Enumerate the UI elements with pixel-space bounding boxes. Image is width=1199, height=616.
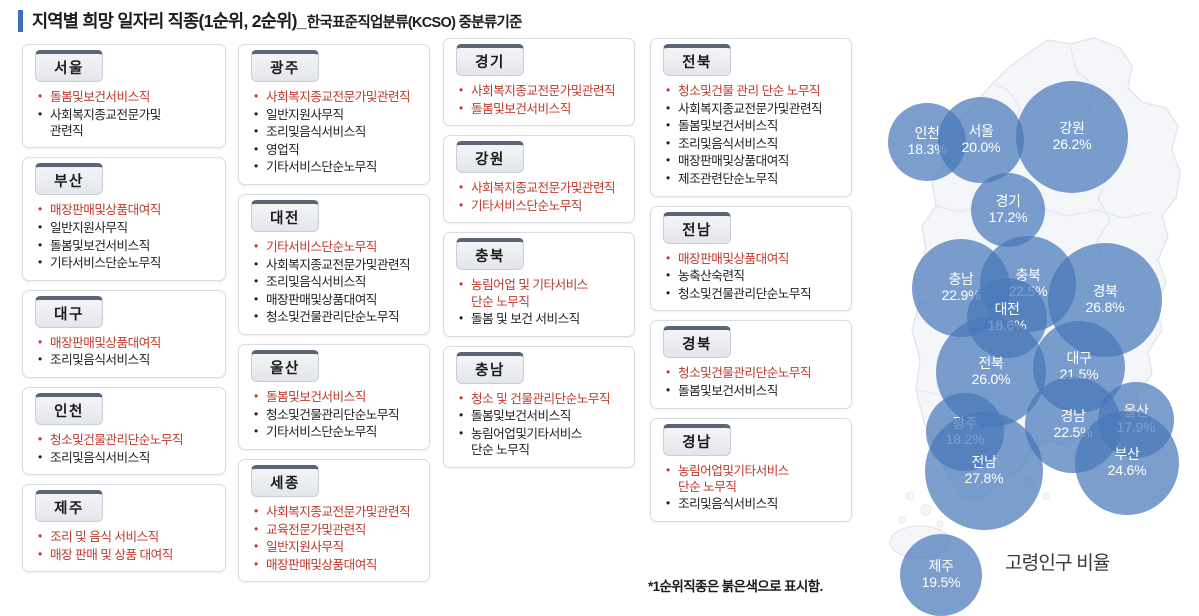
map-bubble: 서울20.0% [938,97,1024,183]
job-list: 청소및건물관리단순노무직돌봄및보건서비스직 [651,365,851,399]
region-card-header: 전북 [663,44,731,76]
job-item: 사회복지종교전문가및 관련직 [37,107,217,139]
region-card: 울산돌봄및보건서비스직청소및건물관리단순노무직기타서비스단순노무직 [238,344,430,450]
page-title: 지역별 희망 일자리 직종(1순위, 2순위)_ 한국표준직업분류(KCSO) … [18,8,522,33]
job-item: 사회복지종교전문가및관련직 [458,83,626,99]
region-card-header: 부산 [35,163,103,195]
job-item: 청소및건물관리단순노무직 [665,365,843,381]
region-card: 경북청소및건물관리단순노무직돌봄및보건서비스직 [650,320,852,408]
job-list: 매장판매및상품대여직농축산숙련직청소및건물관리단순노무직 [651,251,851,302]
job-item: 농축산숙련직 [665,268,843,284]
region-card: 충남청소 및 건물관리단순노무직돌봄및보건서비스직농림어업및기타서비스 단순 노… [443,346,635,468]
job-item: 매장판매및상품대여직 [37,335,217,351]
region-card: 부산매장판매및상품대여직일반지원사무직돌봄및보건서비스직기타서비스단순노무직 [22,157,226,280]
map-bubble: 제주19.5% [900,534,982,616]
region-card: 세종사회복지종교전문가및관련직교육전문가및관련직일반지원사무직매장판매및상품대여… [238,459,430,582]
region-card: 제주조리 및 음식 서비스직매장 판매 및 상품 대여직 [22,484,226,572]
region-name: 경북 [682,337,712,353]
bubble-value: 26.8% [1086,300,1125,316]
region-column-4: 전북청소및건물 관리 단순 노무직사회복지종교전문가및관련직돌봄및보건서비스직조… [650,38,852,531]
region-card: 경기사회복지종교전문가및관련직돌봄및보건서비스직 [443,38,635,126]
job-item: 청소및건물관리단순노무직 [253,407,421,423]
map-bubble: 부산24.6% [1075,411,1179,515]
bubble-region-name: 경남 [1061,409,1086,425]
region-card: 광주사회복지종교전문가및관련직일반지원사무직조리및음식서비스직영업직기타서비스단… [238,44,430,185]
job-item: 기타서비스단순노무직 [458,198,626,214]
job-list: 청소및건물관리단순노무직조리및음식서비스직 [23,432,225,466]
bubble-region-name: 부산 [1115,447,1140,463]
region-card: 인천청소및건물관리단순노무직조리및음식서비스직 [22,387,226,475]
region-name: 전북 [682,55,712,71]
bubble-map-panel: 인천18.3%서울20.0%강원26.2%경기17.2%충남22.9%충북22.… [880,30,1199,602]
job-item: 청소및건물관리단순노무직 [253,309,421,325]
job-item: 청소및건물 관리 단순 노무직 [665,83,843,99]
job-item: 매장 판매 및 상품 대여직 [37,547,217,563]
job-item: 돌봄및보건서비스직 [253,389,421,405]
job-item: 매장판매및상품대여직 [665,153,843,169]
job-item: 돌봄및보건서비스직 [665,383,843,399]
region-name: 충북 [475,249,505,265]
region-card: 전북청소및건물 관리 단순 노무직사회복지종교전문가및관련직돌봄및보건서비스직조… [650,38,852,197]
region-name: 제주 [54,501,84,517]
region-name: 대구 [54,307,84,323]
job-item: 조리및음식서비스직 [37,450,217,466]
job-item: 교육전문가및관련직 [253,522,421,538]
region-card-header: 대구 [35,296,103,328]
job-item: 매장판매및상품대여직 [665,251,843,267]
bubble-region-name: 충남 [949,272,974,288]
job-item: 매장판매및상품대여직 [37,202,217,218]
region-column-1: 서울돌봄및보건서비스직사회복지종교전문가및 관련직부산매장판매및상품대여직일반지… [22,44,226,581]
region-name: 인천 [54,404,84,420]
job-item: 사회복지종교전문가및관련직 [458,180,626,196]
chart-title: 고령인구 비율 [1005,548,1110,575]
job-item: 조리및음식서비스직 [37,352,217,368]
bubble-value: 19.5% [922,575,961,591]
region-card-header: 강원 [456,141,524,173]
job-list: 돌봄및보건서비스직청소및건물관리단순노무직기타서비스단순노무직 [239,389,429,440]
bubble-value: 27.8% [965,471,1004,487]
job-item: 기타서비스단순노무직 [37,255,217,271]
bubble-region-name: 대구 [1067,351,1092,367]
job-item: 영업직 [253,142,421,158]
job-item: 매장판매및상품대여직 [253,292,421,308]
region-card: 충북농림어업 및 기타서비스 단순 노무직돌봄 및 보건 서비스직 [443,232,635,336]
job-list: 사회복지종교전문가및관련직일반지원사무직조리및음식서비스직영업직기타서비스단순노… [239,89,429,176]
job-item: 청소 및 건물관리단순노무직 [458,391,626,407]
region-card: 대전기타서비스단순노무직사회복지종교전문가및관련직조리및음식서비스직매장판매및상… [238,194,430,335]
job-item: 기타서비스단순노무직 [253,424,421,440]
region-column-2: 광주사회복지종교전문가및관련직일반지원사무직조리및음식서비스직영업직기타서비스단… [238,44,430,591]
region-card: 서울돌봄및보건서비스직사회복지종교전문가및 관련직 [22,44,226,148]
bubble-region-name: 대전 [995,302,1020,318]
job-item: 일반지원사무직 [253,539,421,555]
region-card: 강원사회복지종교전문가및관련직기타서비스단순노무직 [443,135,635,223]
job-list: 매장판매및상품대여직일반지원사무직돌봄및보건서비스직기타서비스단순노무직 [23,202,225,271]
job-item: 사회복지종교전문가및관련직 [253,89,421,105]
job-item: 돌봄및보건서비스직 [665,118,843,134]
job-item: 돌봄및보건서비스직 [37,89,217,105]
job-item: 기타서비스단순노무직 [253,159,421,175]
job-list: 청소및건물 관리 단순 노무직사회복지종교전문가및관련직돌봄및보건서비스직조리및… [651,83,851,187]
region-name: 충남 [475,363,505,379]
job-item: 조리및음식서비스직 [665,496,843,512]
job-item: 조리및음식서비스직 [253,274,421,290]
region-name: 경기 [475,55,505,71]
region-card-header: 경남 [663,424,731,456]
region-card-header: 울산 [251,350,319,382]
job-list: 사회복지종교전문가및관련직교육전문가및관련직일반지원사무직매장판매및상품대여직 [239,504,429,573]
job-item: 제조관련단순노무직 [665,171,843,187]
job-item: 일반지원사무직 [37,220,217,236]
job-item: 조리및음식서비스직 [665,136,843,152]
bubble-region-name: 전북 [979,356,1004,372]
job-item: 매장판매및상품대여직 [253,557,421,573]
region-name: 부산 [54,174,84,190]
bubble-value: 24.6% [1108,463,1147,479]
region-name: 세종 [270,476,300,492]
region-card-header: 충남 [456,352,524,384]
job-item: 청소및건물관리단순노무직 [37,432,217,448]
bubble-region-name: 경북 [1093,284,1118,300]
bubble-region-name: 제주 [929,559,954,575]
job-list: 사회복지종교전문가및관련직기타서비스단순노무직 [444,180,634,214]
bubble-value: 20.0% [962,140,1001,156]
job-item: 청소및건물관리단순노무직 [665,286,843,302]
job-item: 농림어업및기타서비스 단순 노무직 [458,426,626,458]
job-list: 사회복지종교전문가및관련직돌봄및보건서비스직 [444,83,634,117]
title-accent-bar [18,10,23,32]
region-card-header: 충북 [456,238,524,270]
bubble-region-name: 인천 [915,126,940,142]
region-card-header: 전남 [663,212,731,244]
job-item: 돌봄및보건서비스직 [458,101,626,117]
bubble-region-name: 강원 [1060,121,1085,137]
region-card-header: 세종 [251,465,319,497]
region-card-header: 제주 [35,490,103,522]
job-list: 기타서비스단순노무직사회복지종교전문가및관련직조리및음식서비스직매장판매및상품대… [239,239,429,326]
region-column-3: 경기사회복지종교전문가및관련직돌봄및보건서비스직강원사회복지종교전문가및관련직기… [443,38,635,477]
region-name: 강원 [475,152,505,168]
job-item: 조리 및 음식 서비스직 [37,529,217,545]
job-item: 사회복지종교전문가및관련직 [665,101,843,117]
job-list: 농림어업및기타서비스 단순 노무직조리및음식서비스직 [651,463,851,513]
title-sub-text: 한국표준직업분류(KCSO) 중분류기준 [307,11,522,32]
job-item: 돌봄및보건서비스직 [458,408,626,424]
region-name: 울산 [270,361,300,377]
region-name: 경남 [682,435,712,451]
region-name: 광주 [270,61,300,77]
region-card: 대구매장판매및상품대여직조리및음식서비스직 [22,290,226,378]
job-list: 매장판매및상품대여직조리및음식서비스직 [23,335,225,369]
job-list: 돌봄및보건서비스직사회복지종교전문가및 관련직 [23,89,225,139]
job-list: 조리 및 음식 서비스직매장 판매 및 상품 대여직 [23,529,225,563]
region-card-header: 경북 [663,326,731,358]
region-card-header: 서울 [35,50,103,82]
job-item: 농림어업 및 기타서비스 단순 노무직 [458,277,626,309]
job-item: 농림어업및기타서비스 단순 노무직 [665,463,843,495]
job-item: 사회복지종교전문가및관련직 [253,504,421,520]
footnote: *1순위직종은 붉은색으로 표시함. [648,575,823,595]
region-card-header: 경기 [456,44,524,76]
job-item: 돌봄및보건서비스직 [37,238,217,254]
job-item: 사회복지종교전문가및관련직 [253,257,421,273]
bubble-value: 26.2% [1053,137,1092,153]
map-bubble: 강원26.2% [1016,81,1128,193]
region-name: 대전 [270,211,300,227]
region-card: 전남매장판매및상품대여직농축산숙련직청소및건물관리단순노무직 [650,206,852,312]
bubble-value: 26.0% [972,372,1011,388]
map-bubble: 전남27.8% [925,412,1043,530]
region-card-header: 광주 [251,50,319,82]
job-item: 조리및음식서비스직 [253,124,421,140]
job-list: 청소 및 건물관리단순노무직돌봄및보건서비스직농림어업및기타서비스 단순 노무직 [444,391,634,458]
region-card-header: 대전 [251,200,319,232]
job-item: 돌봄 및 보건 서비스직 [458,311,626,327]
title-main-text: 지역별 희망 일자리 직종(1순위, 2순위)_ [32,8,306,33]
bubble-region-name: 전남 [972,455,997,471]
region-card: 경남농림어업및기타서비스 단순 노무직조리및음식서비스직 [650,418,852,522]
bubble-region-name: 경기 [996,194,1021,210]
job-list: 농림어업 및 기타서비스 단순 노무직돌봄 및 보건 서비스직 [444,277,634,327]
bubble-value: 17.2% [989,210,1028,226]
region-name: 전남 [682,223,712,239]
region-name: 서울 [54,61,84,77]
job-item: 기타서비스단순노무직 [253,239,421,255]
region-card-header: 인천 [35,393,103,425]
job-item: 일반지원사무직 [253,107,421,123]
bubble-region-name: 서울 [969,124,994,140]
